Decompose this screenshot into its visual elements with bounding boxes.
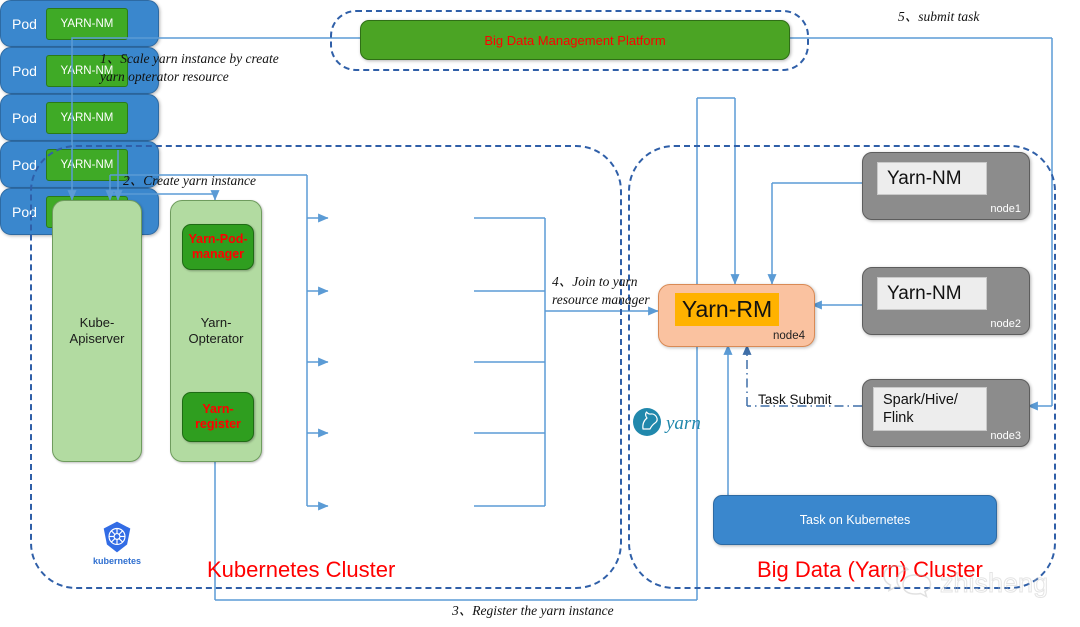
step-3-label: 3、Register the yarn instance [452, 602, 712, 620]
yarn-rm-label: Yarn-RM [675, 293, 779, 326]
yarn-rm-node-label: node4 [773, 330, 805, 342]
yarn-logo: yarn [631, 401, 719, 448]
kubernetes-logo [100, 520, 134, 559]
node3-name-label: node3 [990, 430, 1021, 442]
node1-service-label: Yarn-NM [877, 162, 987, 195]
pod-row[interactable]: Pod YARN-NM [0, 94, 159, 141]
yarn-pod-manager-label: Yarn-Pod- manager [188, 232, 247, 262]
task-on-kubernetes-label: Task on Kubernetes [800, 513, 911, 527]
kubernetes-icon [100, 520, 134, 554]
kubernetes-cluster-label: Kubernetes Cluster [207, 557, 395, 583]
yarn-pod-manager-chip[interactable]: Yarn-Pod- manager [182, 224, 254, 270]
big-data-management-platform[interactable]: Big Data Management Platform [360, 20, 790, 60]
diagram-canvas: Big Data Management Platform 1、Scale yar… [0, 0, 1080, 627]
yarn-rm-box[interactable]: Yarn-RM node4 [658, 284, 815, 347]
node3-service-label: Spark/Hive/ Flink [873, 387, 987, 431]
pod-label: Pod [12, 110, 37, 126]
yarn-nm-chip[interactable]: YARN-NM [46, 8, 128, 40]
task-on-kubernetes-box[interactable]: Task on Kubernetes [713, 495, 997, 545]
yarn-nm-chip[interactable]: YARN-NM [46, 102, 128, 134]
node2-service-label: Yarn-NM [877, 277, 987, 310]
yarn-operator-label: Yarn- Opterator [189, 315, 244, 348]
step-5-label: 5、submit task [898, 8, 1058, 26]
yarn-register-chip[interactable]: Yarn- register [182, 392, 254, 442]
step-2-label: 2、Create yarn instance [123, 172, 333, 190]
node3-box[interactable]: Spark/Hive/ Flink node3 [862, 379, 1030, 447]
pod-label: Pod [12, 157, 37, 173]
node1-box[interactable]: Yarn-NM node1 [862, 152, 1030, 220]
yarn-register-label: Yarn- register [195, 402, 241, 432]
bigdata-cluster-label: Big Data (Yarn) Cluster [757, 557, 983, 583]
svg-text:yarn: yarn [664, 413, 701, 434]
task-submit-label: Task Submit [758, 392, 832, 407]
kubernetes-logo-caption: kubernetes [87, 556, 147, 566]
step-1-label: 1、Scale yarn instance by create yarn opt… [100, 50, 330, 86]
node1-name-label: node1 [990, 203, 1021, 215]
kube-apiserver-pane[interactable]: Kube- Apiserver [52, 200, 142, 462]
node2-name-label: node2 [990, 318, 1021, 330]
pod-row[interactable]: Pod YARN-NM [0, 0, 159, 47]
pod-label: Pod [12, 16, 37, 32]
pod-label: Pod [12, 63, 37, 79]
platform-label: Big Data Management Platform [484, 33, 665, 48]
node2-box[interactable]: Yarn-NM node2 [862, 267, 1030, 335]
kube-apiserver-label: Kube- Apiserver [70, 315, 125, 348]
yarn-icon: yarn [631, 401, 719, 443]
